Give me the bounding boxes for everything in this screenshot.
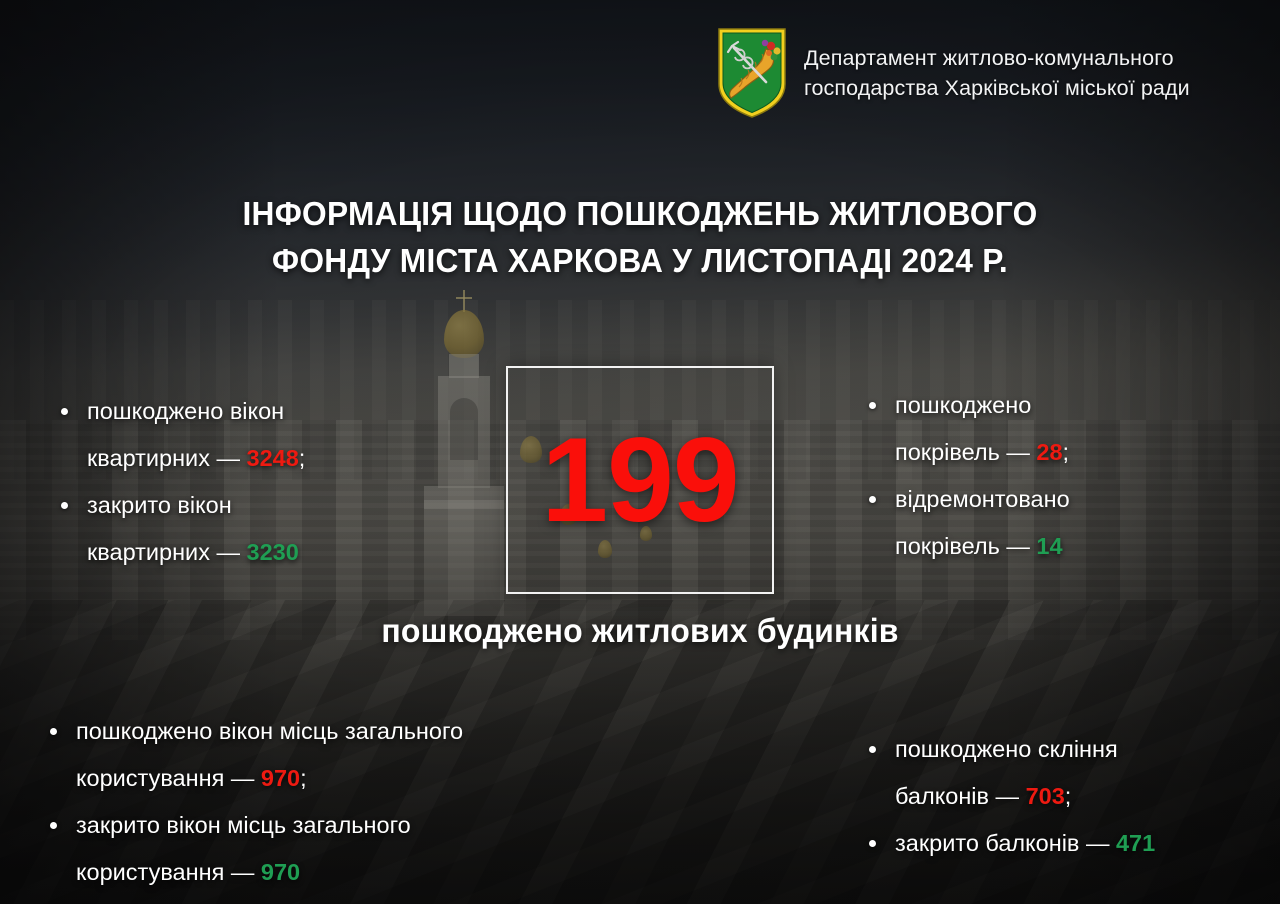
stat-suffix: ; xyxy=(299,445,306,471)
stat-value: 471 xyxy=(1116,830,1155,856)
stat-label: закрито вікон місць загального користува… xyxy=(76,812,411,885)
department-name: Департамент житлово-комунального господа… xyxy=(804,43,1190,103)
stat-value: 28 xyxy=(1036,439,1062,465)
stat-label: пошкоджено скління балконів — xyxy=(895,736,1118,809)
stat-suffix: ; xyxy=(1065,783,1072,809)
stat-value: 703 xyxy=(1026,783,1065,809)
stat-value: 3230 xyxy=(247,539,299,565)
stat-item: відремонтовано покрівель — 14 xyxy=(861,476,1261,570)
stat-list-top-left: пошкоджено вікон квартирних — 3248;закри… xyxy=(53,388,473,576)
hero-caption: пошкоджено житлових будинків xyxy=(19,612,1261,650)
infographic-poster: Департамент житлово-комунального господа… xyxy=(0,0,1280,904)
stat-label: закрито балконів — xyxy=(895,830,1116,856)
stat-value: 3248 xyxy=(247,445,299,471)
page-title: ІНФОРМАЦІЯ ЩОДО ПОШКОДЖЕНЬ ЖИТЛОВОГО ФОН… xyxy=(26,190,1255,284)
stat-value: 970 xyxy=(261,859,300,885)
stat-item: пошкоджено вікон місць загального корист… xyxy=(42,708,642,802)
stat-item: пошкоджено скління балконів — 703; xyxy=(861,726,1271,820)
hero-number: 199 xyxy=(506,366,774,594)
stat-suffix: ; xyxy=(1063,439,1070,465)
kharkiv-coat-of-arms-icon xyxy=(716,26,788,120)
stat-value: 970 xyxy=(261,765,300,791)
stat-list-top-right: пошкоджено покрівель — 28;відремонтовано… xyxy=(861,382,1261,570)
department-header: Департамент житлово-комунального господа… xyxy=(716,26,1190,120)
stat-value: 14 xyxy=(1036,533,1062,559)
stat-list-bottom-left: пошкоджено вікон місць загального корист… xyxy=(42,708,642,896)
stat-label: закрито вікон квартирних — xyxy=(87,492,247,565)
stat-item: пошкоджено вікон квартирних — 3248; xyxy=(53,388,473,482)
stat-label: пошкоджено покрівель — xyxy=(895,392,1036,465)
stat-list-bottom-right: пошкоджено скління балконів — 703;закрит… xyxy=(861,726,1271,867)
stat-suffix: ; xyxy=(300,765,307,791)
stat-item: закрито вікон місць загального користува… xyxy=(42,802,642,896)
stat-item: пошкоджено покрівель — 28; xyxy=(861,382,1261,476)
stat-item: закрито балконів — 471 xyxy=(861,820,1271,867)
stat-item: закрито вікон квартирних — 3230 xyxy=(53,482,473,576)
